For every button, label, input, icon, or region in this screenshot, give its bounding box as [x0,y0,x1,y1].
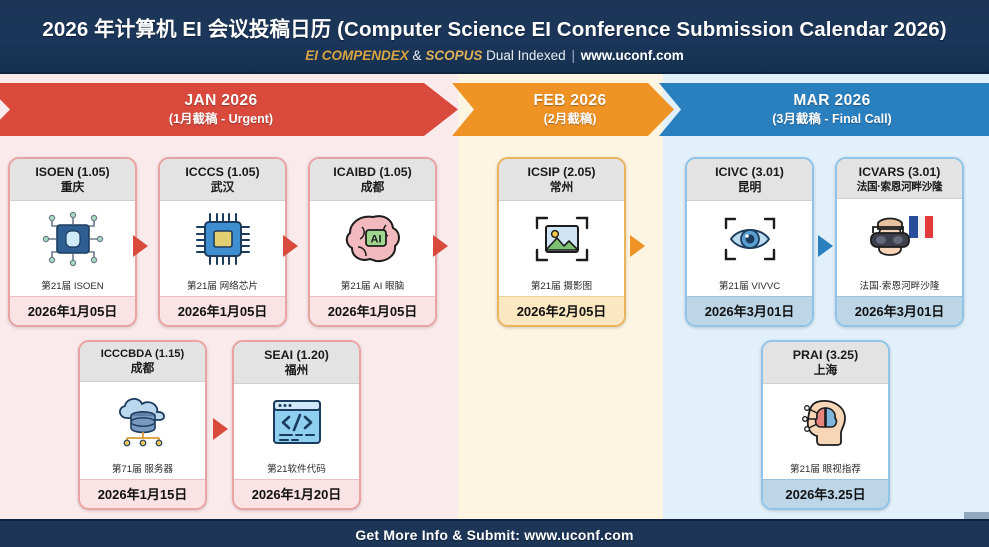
card-city: 昆明 [690,181,809,195]
card-city: 常州 [502,181,621,195]
month-sub-mar: (3月截稿 - Final Call) [772,112,891,126]
page-title: 2026 年计算机 EI 会议投稿日历 (Computer Science EI… [42,12,946,42]
card-header: ICSIP (2.05) 常州 [499,159,624,201]
head-brain-ai-icon [763,384,888,461]
card-date: 2026年1月05日 [310,296,435,325]
conference-card-icccbda[interactable]: ICCCBDA (1.15) 成都 第71届 服务器 2026年1月15日 [78,340,207,510]
card-title: ICVARS (3.01) [840,165,959,180]
card-note: 第21届 ISOEN [10,278,135,296]
month-banner-jan: JAN 2026 (1月截稿 - Urgent) [0,83,458,136]
cloud-database-icon [80,382,205,461]
card-date: 2026年3月01日 [687,296,812,325]
card-title: PRAI (3.25) [766,348,885,363]
card-date: 2026年1月05日 [10,296,135,325]
card-city: 重庆 [13,181,132,195]
card-header: ISOEN (1.05) 重庆 [10,159,135,201]
card-city: 成都 [313,181,432,195]
conference-card-prai[interactable]: PRAI (3.25) 上海 第21届 眼视指荐 2026年3.25日 [761,340,890,510]
calendar-poster: 2026 年计算机 EI 会议投稿日历 (Computer Science EI… [0,0,989,547]
card-date: 2026年3月01日 [837,296,962,325]
card-header: PRAI (3.25) 上海 [763,342,888,384]
card-note: 第21届 AI 眼脑 [310,278,435,296]
image-scan-icon [499,201,624,278]
eye-scan-icon [687,201,812,278]
card-city: 福州 [237,364,356,378]
flow-arrow-icon [213,418,228,440]
flow-arrow-icon [630,235,645,257]
card-note: 第71届 服务器 [80,461,205,479]
subtitle-scopus: SCOPUS [425,48,482,63]
card-date: 2026年1月20日 [234,479,359,508]
conference-card-icsip[interactable]: ICSIP (2.05) 常州 第21届 摄影图 2026年2月05日 [497,157,626,327]
poster-header: 2026 年计算机 EI 会议投稿日历 (Computer Science EI… [0,0,989,74]
conference-card-isoen[interactable]: ISOEN (1.05) 重庆 第21 [8,157,137,327]
svg-text:AI: AI [370,234,381,246]
conference-card-icaibd[interactable]: ICAIBD (1.05) 成都 AI 第21届 AI 眼脑 2026年1月05… [308,157,437,327]
card-header: ICCCS (1.05) 武汉 [160,159,285,201]
poster-footer: Get More Info & Submit: www.uconf.com [0,519,989,547]
card-header: ICAIBD (1.05) 成都 [310,159,435,201]
header-subtitle: EI COMPENDEX & SCOPUS Dual Indexed | www… [305,48,683,63]
flow-arrow-icon [433,235,448,257]
card-header: ICCCBDA (1.15) 成都 [80,342,205,382]
footer-cta[interactable]: Get More Info & Submit: www.uconf.com [355,527,633,543]
vr-headset-icon [837,199,962,278]
subtitle-dual-indexed: Dual Indexed [486,48,566,63]
card-header: ICIVC (3.01) 昆明 [687,159,812,201]
subtitle-separator: | [569,48,577,63]
card-title: ICCCBDA (1.15) [83,348,202,361]
conference-card-icvars[interactable]: ICVARS (3.01) 法国·索恩河畔沙隆 法国·索恩河畔沙隆 2026年3… [835,157,964,327]
month-name-mar: MAR 2026 [793,92,870,110]
subtitle-website[interactable]: www.uconf.com [581,48,684,63]
card-city: 成都 [83,362,202,376]
conference-card-icivc[interactable]: ICIVC (3.01) 昆明 第21届 VIVVC 2026年3月01日 [685,157,814,327]
flow-arrow-icon [283,235,298,257]
card-title: ISOEN (1.05) [13,165,132,180]
card-header: SEAI (1.20) 福州 [234,342,359,384]
card-city: 上海 [766,364,885,378]
card-note: 第21软件代码 [234,461,359,479]
flow-arrow-icon [133,235,148,257]
month-sub-feb: (2月截稿) [544,112,597,126]
card-title: ICSIP (2.05) [502,165,621,180]
card-note: 法国·索恩河畔沙隆 [837,278,962,296]
card-date: 2026年1月05日 [160,296,285,325]
flow-arrow-icon [818,235,833,257]
cpu-chip-icon [10,201,135,278]
card-date: 2026年1月15日 [80,479,205,508]
card-note: 第21届 眼视指荐 [763,461,888,479]
microchip-icon [160,201,285,278]
card-date: 2026年2月05日 [499,296,624,325]
month-banner-mar: MAR 2026 (3月截稿 - Final Call) [659,83,989,136]
card-title: ICIVC (3.01) [690,165,809,180]
card-note: 第21届 VIVVC [687,278,812,296]
card-header: ICVARS (3.01) 法国·索恩河畔沙隆 [837,159,962,199]
conference-card-seai[interactable]: SEAI (1.20) 福州 第21软件代码 2026年1月20日 [232,340,361,510]
month-banner-feb: FEB 2026 (2月截稿) [452,83,674,136]
card-note: 第21届 网络芯片 [160,278,285,296]
code-window-icon [234,384,359,461]
ai-brain-icon: AI [310,201,435,278]
subtitle-ampersand: & [413,48,422,63]
card-note: 第21届 摄影图 [499,278,624,296]
card-city: 武汉 [163,181,282,195]
card-city: 法国·索恩河畔沙隆 [840,181,959,194]
card-date: 2026年3.25日 [763,479,888,508]
card-title: ICCCS (1.05) [163,165,282,180]
month-name-feb: FEB 2026 [534,92,607,110]
card-title: ICAIBD (1.05) [313,165,432,180]
subtitle-ei-compendex: EI COMPENDEX [305,48,409,63]
month-sub-jan: (1月截稿 - Urgent) [169,112,273,126]
card-title: SEAI (1.20) [237,348,356,363]
month-name-jan: JAN 2026 [185,92,258,110]
conference-card-icccs[interactable]: ICCCS (1.05) 武汉 第21届 网络芯片 2026年1月05日 [158,157,287,327]
